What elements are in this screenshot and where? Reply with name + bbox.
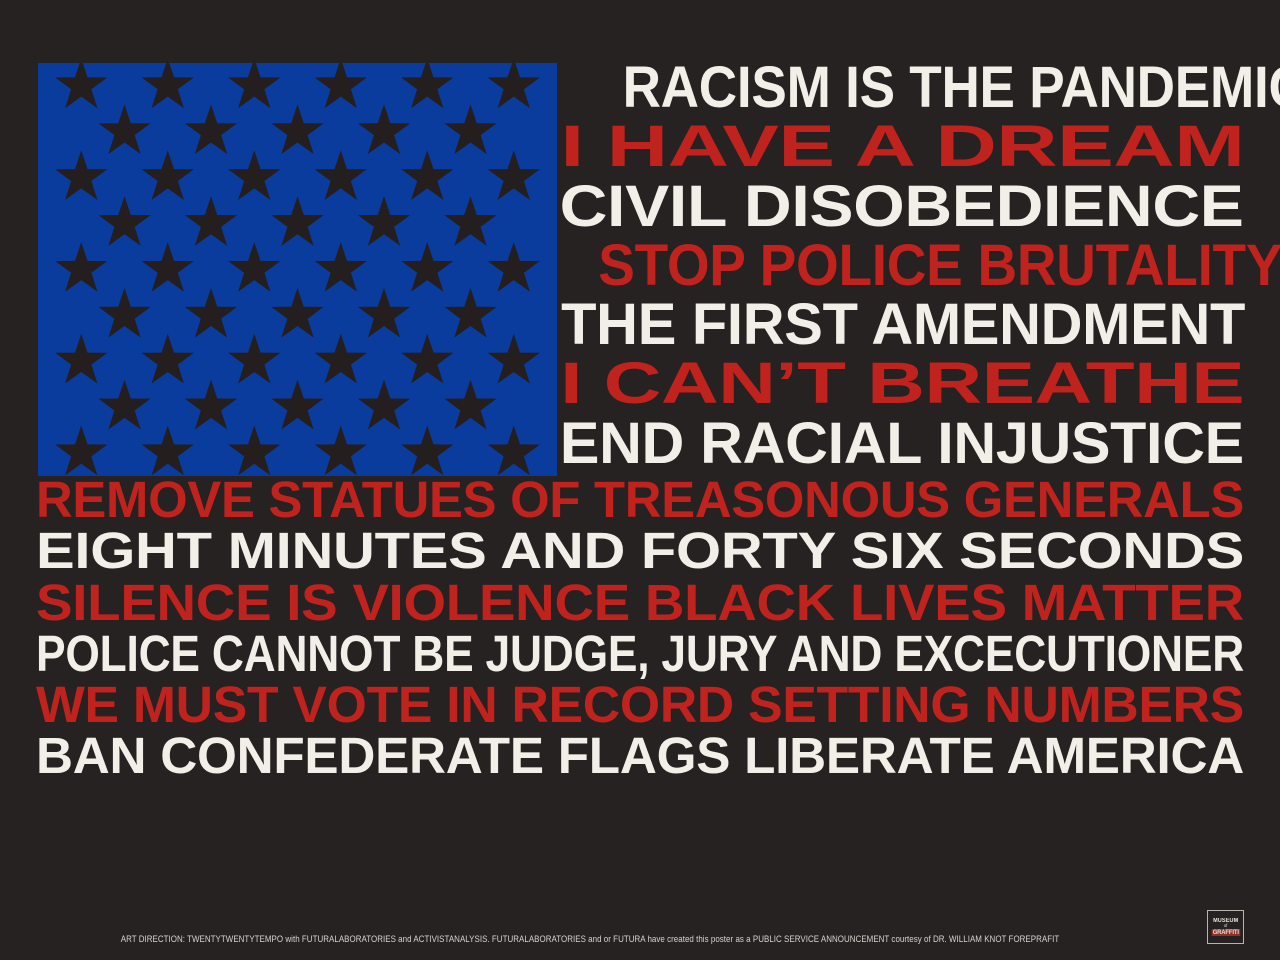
- headline-text: I CAN’T BREATHE: [560, 359, 1244, 409]
- headline-text: EIGHT MINUTES AND FORTY SIX SECONDS: [36, 529, 1244, 573]
- protest-poster: RACISM IS THE PANDEMIC I HAVE A DREAM CI…: [0, 0, 1280, 960]
- headline-line: BAN CONFEDERATE FLAGS LIBERATE AMERICA: [36, 734, 1244, 785]
- headline-text: REMOVE STATUES OF TREASONOUS GENERALS: [36, 478, 1244, 522]
- headline-text: STOP POLICE BRUTALITY: [598, 241, 1280, 291]
- logo-middle-text: of: [1224, 924, 1228, 928]
- headline-text: I HAVE A DREAM: [560, 122, 1244, 172]
- credit-line: ART DIRECTION: TWENTYTWENTYTEMPO with FU…: [90, 934, 1090, 943]
- headline-text: CIVIL DISOBEDIENCE: [560, 182, 1244, 232]
- headline-text: THE FIRST AMENDMENT: [561, 300, 1245, 350]
- upper-composition: RACISM IS THE PANDEMIC I HAVE A DREAM CI…: [0, 0, 1280, 478]
- headline-stack-right: RACISM IS THE PANDEMIC I HAVE A DREAM CI…: [560, 63, 1244, 478]
- star-field: [38, 63, 557, 476]
- headline-text: WE MUST VOTE IN RECORD SETTING NUMBERS: [36, 683, 1244, 727]
- poster-footer: ART DIRECTION: TWENTYTWENTYTEMPO with FU…: [0, 850, 1280, 960]
- headline-text: RACISM IS THE PANDEMIC: [623, 63, 1280, 113]
- headline-text: SILENCE IS VIOLENCE BLACK LIVES MATTER: [36, 581, 1244, 625]
- headline-text: BAN CONFEDERATE FLAGS LIBERATE AMERICA: [36, 734, 1244, 778]
- flag-canton: [38, 63, 557, 476]
- headline-line: END RACIAL INJUSTICE: [560, 419, 1244, 478]
- headline-text: END RACIAL INJUSTICE: [560, 419, 1244, 469]
- logo-bottom-text: GRAFFITI: [1211, 929, 1239, 936]
- headline-text: POLICE CANNOT BE JUDGE, JURY AND EXCECUT…: [36, 632, 1244, 676]
- museum-of-graffiti-logo: MUSEUM of GRAFFITI: [1207, 910, 1244, 944]
- headline-stack-full-width: REMOVE STATUES OF TREASONOUS GENERALS EI…: [36, 478, 1244, 838]
- logo-top-text: MUSEUM: [1213, 918, 1238, 924]
